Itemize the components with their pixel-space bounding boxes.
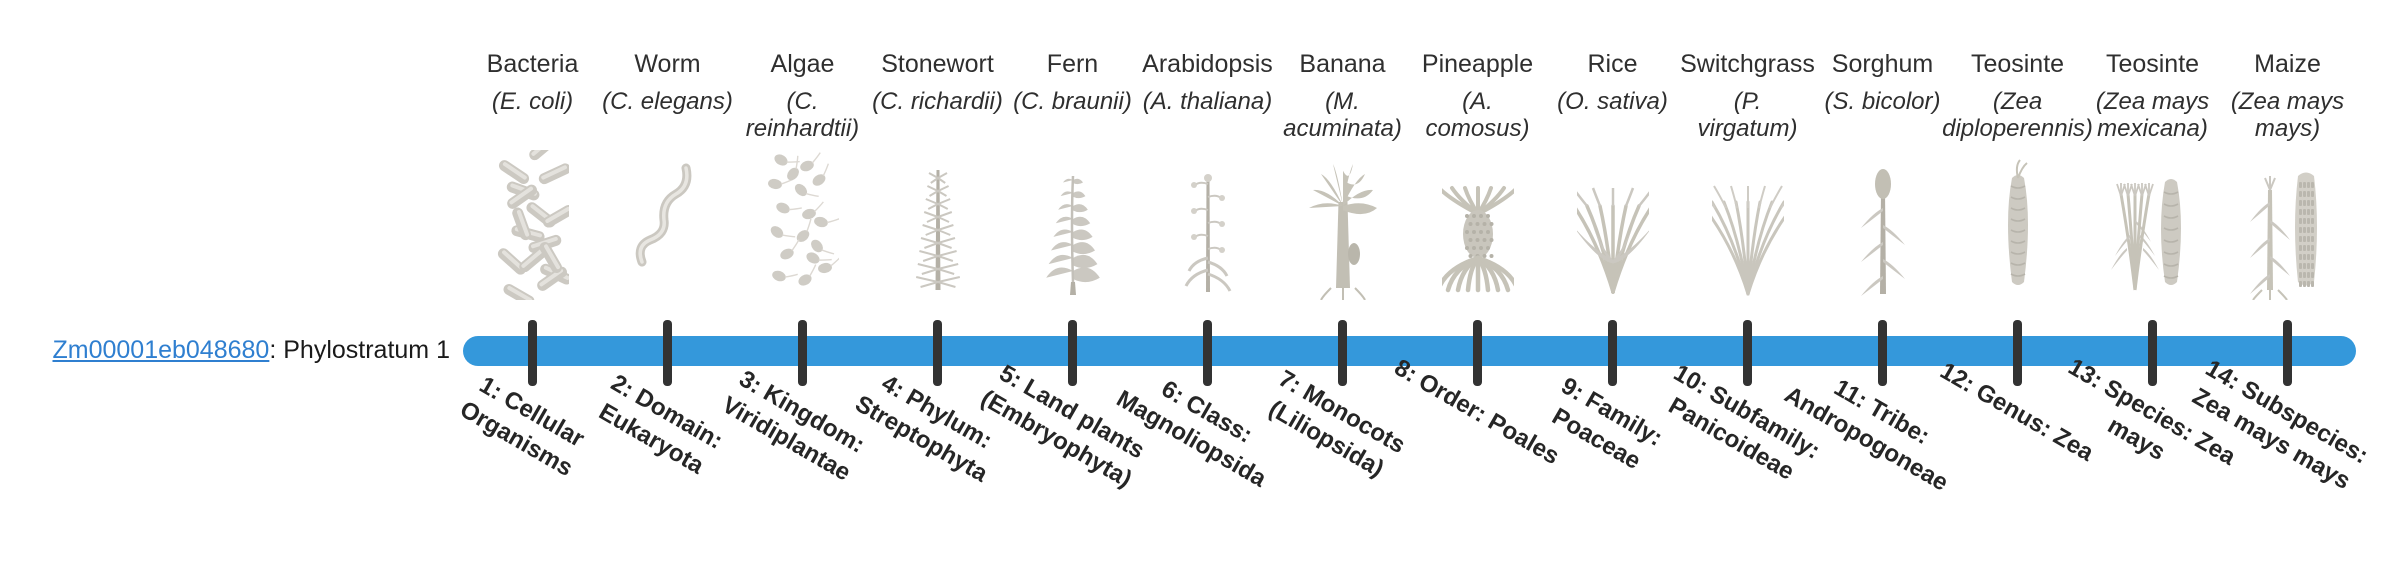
phylostratum-tick-4 (933, 320, 942, 386)
species-common-name: Worm (634, 50, 700, 78)
arabidopsis-icon (1140, 168, 1275, 300)
species-scientific-name: (S. bicolor) (1824, 89, 1940, 116)
phylostratum-label-column: 7: Monocots (Liliopsida) (1275, 392, 1410, 577)
species-scientific-name: (C. elegans) (602, 89, 733, 116)
phylostratum-label-column: 10: Subfamily: Panicoideae (1680, 392, 1815, 577)
species-column: Teosinte(Zea mays mexicana) (2085, 50, 2220, 143)
phylostratum-label-column: 4: Phylum: Streptophyta (870, 392, 1005, 577)
species-scientific-name: (Zea diploperennis) (1942, 89, 2093, 143)
algae-cells-icon (735, 168, 870, 300)
phylostratum-tick-13 (2148, 320, 2157, 386)
stonewort-icon (870, 168, 1005, 300)
switchgrass-icon (1680, 168, 1815, 300)
species-common-name: Fern (1047, 50, 1098, 78)
sorghum-icon (1815, 168, 1950, 300)
phylostratum-tick-6 (1203, 320, 1212, 386)
gene-id-link[interactable]: Zm00001eb048680 (52, 336, 269, 364)
phylostratum-label-column: 3: Kingdom: Viridiplantae (735, 392, 870, 577)
maize-plant-ear-icon (2220, 168, 2355, 300)
phylostratum-tick-11 (1878, 320, 1887, 386)
species-column: Maize(Zea mays mays) (2220, 50, 2355, 143)
teosinte-ear-icon (1950, 168, 2085, 300)
species-column: Algae(C. reinhardtii) (735, 50, 870, 143)
species-column: Bacteria(E. coli) (465, 50, 600, 116)
phylostratum-tick-1 (528, 320, 537, 386)
species-scientific-name: (M. acuminata) (1277, 89, 1408, 143)
phylostratum-label-column: 13: Species: Zea mays (2085, 392, 2220, 577)
phylostratum-label-column: 11: Tribe: Andropogoneae (1815, 392, 1950, 577)
species-scientific-name: (Zea mays mexicana) (2087, 89, 2218, 143)
gene-phylostratum-value: Phylostratum 1 (283, 336, 450, 364)
species-column: Teosinte(Zea diploperennis) (1950, 50, 2085, 143)
species-column: Rice(O. sativa) (1545, 50, 1680, 116)
species-common-name: Sorghum (1832, 50, 1933, 78)
species-column: Pineapple(A. comosus) (1410, 50, 1545, 143)
organism-illustration-row (465, 168, 2355, 300)
species-common-name: Banana (1299, 50, 1385, 78)
species-scientific-name: (C. richardii) (872, 89, 1003, 116)
species-scientific-name: (A. comosus) (1412, 89, 1543, 143)
species-column: Banana(M. acuminata) (1275, 50, 1410, 143)
phylostratum-label-column: 14: Subspecies: Zea mays mays (2220, 392, 2355, 577)
species-column: Stonewort(C. richardii) (870, 50, 1005, 116)
nematode-worm-icon (600, 168, 735, 300)
phylostratigraphy-figure: Bacteria(E. coli)Worm(C. elegans)Algae(C… (0, 0, 2400, 580)
phylostratum-tick-14 (2283, 320, 2292, 386)
phylostratum-tick-2 (663, 320, 672, 386)
species-scientific-name: (P. virgatum) (1682, 89, 1813, 143)
species-common-name: Bacteria (487, 50, 579, 78)
species-common-name: Teosinte (1971, 50, 2064, 78)
phylostratum-label-column: 2: Domain: Eukaryota (600, 392, 735, 577)
species-common-name: Arabidopsis (1142, 50, 1273, 78)
species-column: Worm(C. elegans) (600, 50, 735, 116)
phylostratum-label-column: 9: Family: Poaceae (1545, 392, 1680, 577)
species-scientific-name: (O. sativa) (1557, 89, 1668, 116)
pineapple-icon (1410, 168, 1545, 300)
phylostratum-tick-10 (1743, 320, 1752, 386)
species-common-name: Algae (771, 50, 835, 78)
species-header-row: Bacteria(E. coli)Worm(C. elegans)Algae(C… (465, 50, 2355, 170)
phylostratum-label-column: 5: Land plants (Embryophyta) (1005, 392, 1140, 577)
bacteria-rods-icon (465, 168, 600, 300)
phylostratum-tick-7 (1338, 320, 1347, 386)
species-scientific-name: (A. thaliana) (1143, 89, 1272, 116)
rice-plant-icon (1545, 168, 1680, 300)
species-scientific-name: (Zea mays mays) (2222, 89, 2353, 143)
banana-plant-icon (1275, 168, 1410, 300)
phylostratum-label-column: 12: Genus: Zea (1950, 392, 2085, 577)
species-scientific-name: (C. reinhardtii) (737, 89, 868, 143)
fern-frond-icon (1005, 168, 1140, 300)
species-common-name: Maize (2254, 50, 2321, 78)
species-common-name: Stonewort (881, 50, 994, 78)
phylostratum-tick-9 (1608, 320, 1617, 386)
species-common-name: Switchgrass (1680, 50, 1815, 78)
species-column: Switchgrass(P. virgatum) (1680, 50, 1815, 143)
teosinte-plant-ear-icon (2085, 168, 2220, 300)
phylostratum-tick-8 (1473, 320, 1482, 386)
species-common-name: Teosinte (2106, 50, 2199, 78)
species-scientific-name: (C. braunii) (1013, 89, 1132, 116)
species-common-name: Pineapple (1422, 50, 1533, 78)
species-common-name: Rice (1587, 50, 1637, 78)
phylostratum-label-column: 6: Class: Magnoliopsida (1140, 392, 1275, 577)
gene-label-separator: : (269, 336, 283, 364)
phylostratum-tick-12 (2013, 320, 2022, 386)
species-column: Fern(C. braunii) (1005, 50, 1140, 116)
species-column: Sorghum(S. bicolor) (1815, 50, 1950, 116)
gene-phylostratum-label: Zm00001eb048680: Phylostratum 1 (30, 336, 450, 365)
species-scientific-name: (E. coli) (492, 89, 573, 116)
phylostratum-label-row: 1: Cellular Organisms2: Domain: Eukaryot… (465, 392, 2355, 577)
species-column: Arabidopsis(A. thaliana) (1140, 50, 1275, 116)
phylostratum-tick-3 (798, 320, 807, 386)
phylostratum-label-column: 8: Order: Poales (1410, 392, 1545, 577)
phylostratum-label-column: 1: Cellular Organisms (465, 392, 600, 577)
phylostratum-tick-5 (1068, 320, 1077, 386)
